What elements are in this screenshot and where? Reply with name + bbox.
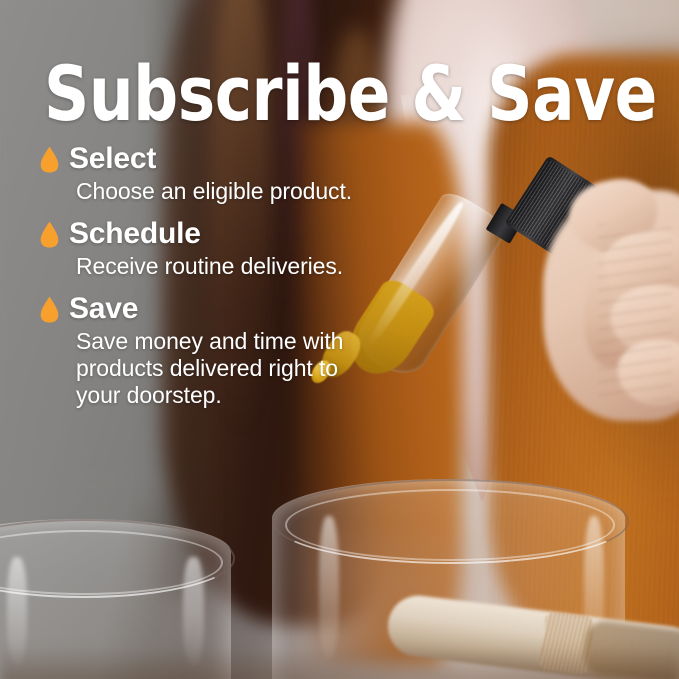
subscribe-and-save-banner: Subscribe & Save Select Choose an eligib… <box>0 0 679 679</box>
text-overlay: Subscribe & Save Select Choose an eligib… <box>0 0 679 679</box>
oil-drop-icon <box>40 146 59 173</box>
benefit-title: Schedule <box>69 218 201 250</box>
benefit-title: Select <box>69 143 156 175</box>
benefit-item-save: Save Save money and time with products d… <box>40 292 400 409</box>
benefit-heading-row: Schedule <box>40 217 400 251</box>
oil-drop-icon <box>40 296 59 323</box>
benefit-description: Save money and time with products delive… <box>76 328 376 409</box>
oil-drop-icon <box>40 221 59 248</box>
benefit-description: Choose an eligible product. <box>76 178 376 205</box>
benefit-item-select: Select Choose an eligible product. <box>40 142 400 205</box>
page-title: Subscribe & Save <box>44 56 657 132</box>
benefit-heading-row: Save <box>40 292 400 326</box>
benefit-title: Save <box>69 293 138 325</box>
benefit-item-schedule: Schedule Receive routine deliveries. <box>40 217 400 280</box>
benefits-list: Select Choose an eligible product. Sched… <box>40 142 400 409</box>
benefit-description: Receive routine deliveries. <box>76 253 376 280</box>
benefit-heading-row: Select <box>40 142 400 176</box>
